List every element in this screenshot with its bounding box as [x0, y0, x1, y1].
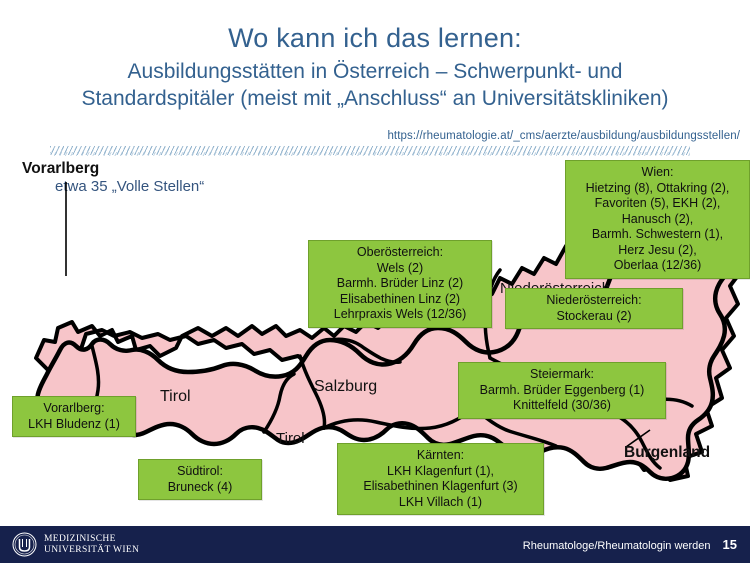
- callout-stir-line-1: Bruneck (4): [145, 480, 255, 496]
- footer-right: Rheumatologe/Rheumatologin werden 15: [523, 537, 737, 552]
- callout-ktn-line-2: Elisabethinen Klagenfurt (3): [344, 479, 537, 495]
- callout-noe-line-1: Stockerau (2): [512, 309, 676, 325]
- callout-wien-line-5: Herz Jesu (2),: [572, 243, 743, 259]
- callout-wien-line-0: Wien:: [572, 165, 743, 181]
- logo-line-1: MEDIZINISCHE: [44, 534, 139, 545]
- callout-niederoesterreich[interactable]: Niederösterreich: Stockerau (2): [505, 288, 683, 329]
- page-title: Wo kann ich das lernen:: [0, 22, 750, 55]
- callout-oberoesterreich[interactable]: Oberösterreich: Wels (2) Barmh. Brüder L…: [308, 240, 492, 328]
- callout-vbg-line-0: Vorarlberg:: [19, 401, 129, 417]
- callout-ooe-line-3: Elisabethinen Linz (2): [315, 292, 485, 308]
- callout-ooe-line-2: Barmh. Brüder Linz (2): [315, 276, 485, 292]
- callout-wien[interactable]: Wien: Hietzing (8), Ottakring (2), Favor…: [565, 160, 750, 279]
- callout-kaernten[interactable]: Kärnten: LKH Klagenfurt (1), Elisabethin…: [337, 443, 544, 515]
- map-label-vorarlberg: Vorarlberg: [22, 160, 99, 178]
- logo-line-2: UNIVERSITÄT WIEN: [44, 545, 139, 556]
- callout-stmk-line-2: Knittelfeld (30/36): [465, 398, 659, 414]
- meduni-wien-logo: MEDIZINISCHE UNIVERSITÄT WIEN: [12, 532, 139, 557]
- callout-ooe-line-0: Oberösterreich:: [315, 245, 485, 261]
- callout-ktn-line-3: LKH Villach (1): [344, 495, 537, 511]
- callout-stmk-line-0: Steiermark:: [465, 367, 659, 383]
- university-seal-icon: [12, 532, 37, 557]
- page-number: 15: [723, 537, 737, 552]
- map-label-tirol: Tirol: [160, 388, 191, 406]
- footer: MEDIZINISCHE UNIVERSITÄT WIEN Rheumatolo…: [0, 526, 750, 563]
- source-url[interactable]: https://rheumatologie.at/_cms/aerzte/aus…: [0, 130, 740, 142]
- footer-caption: Rheumatologe/Rheumatologin werden: [523, 540, 711, 552]
- callout-stmk-line-1: Barmh. Brüder Eggenberg (1): [465, 383, 659, 399]
- callout-wien-line-1: Hietzing (8), Ottakring (2),: [572, 181, 743, 197]
- callout-ktn-line-1: LKH Klagenfurt (1),: [344, 464, 537, 480]
- callout-wien-line-3: Hanusch (2),: [572, 212, 743, 228]
- page-subtitle-line1: Ausbildungsstätten in Österreich – Schwe…: [0, 58, 750, 85]
- meduni-wien-logo-text: MEDIZINISCHE UNIVERSITÄT WIEN: [44, 534, 139, 556]
- page-subtitle-line2: Standardspitäler (meist mit „Anschluss“ …: [0, 85, 750, 112]
- title-block: Wo kann ich das lernen: Ausbildungsstätt…: [0, 22, 750, 112]
- callout-vorarlberg[interactable]: Vorarlberg: LKH Bludenz (1): [12, 396, 136, 437]
- callout-ktn-line-0: Kärnten:: [344, 448, 537, 464]
- callout-vbg-line-1: LKH Bludenz (1): [19, 417, 129, 433]
- callout-ooe-line-1: Wels (2): [315, 261, 485, 277]
- callout-suedtirol[interactable]: Südtirol: Bruneck (4): [138, 459, 262, 500]
- map-label-salzburg: Salzburg: [314, 378, 377, 396]
- slide: Wo kann ich das lernen: Ausbildungsstätt…: [0, 0, 750, 563]
- callout-ooe-line-4: Lehrpraxis Wels (12/36): [315, 307, 485, 323]
- map-label-burgenland: Burgenland: [624, 444, 710, 462]
- map-label-osttirol: Tirol: [276, 430, 305, 447]
- callout-noe-line-0: Niederösterreich:: [512, 293, 676, 309]
- callout-wien-line-6: Oberlaa (12/36): [572, 258, 743, 274]
- callout-stir-line-0: Südtirol:: [145, 464, 255, 480]
- callout-wien-line-2: Favoriten (5), EKH (2),: [572, 196, 743, 212]
- callout-steiermark[interactable]: Steiermark: Barmh. Brüder Eggenberg (1) …: [458, 362, 666, 419]
- callout-wien-line-4: Barmh. Schwestern (1),: [572, 227, 743, 243]
